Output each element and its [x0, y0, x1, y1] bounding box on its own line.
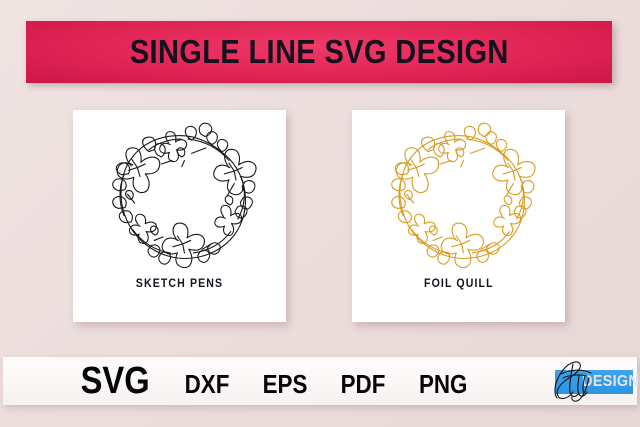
logo-fly-script-icon [549, 358, 603, 402]
file-formats-bar: SVG DXF EPS PDF PNG DESIGN [3, 357, 637, 405]
design-canvas: SINGLE LINE SVG DESIGN [0, 0, 640, 427]
format-eps: EPS [263, 371, 308, 397]
format-pdf: PDF [341, 371, 386, 397]
format-svg: SVG [81, 362, 150, 400]
header-banner: SINGLE LINE SVG DESIGN [26, 21, 612, 83]
brand-logo[interactable]: DESIGN [537, 361, 633, 401]
preview-card-sketch-pens[interactable]: SKETCH PENS [73, 110, 286, 322]
preview-card-foil-quill[interactable]: FOIL QUILL [352, 110, 565, 322]
page-title: SINGLE LINE SVG DESIGN [130, 33, 509, 71]
format-png: PNG [419, 371, 467, 397]
floral-wreath-icon-black [73, 110, 286, 278]
card-caption-foil-quill: FOIL QUILL [424, 278, 494, 290]
floral-wreath-icon-gold [352, 110, 565, 278]
card-caption-sketch-pens: SKETCH PENS [136, 278, 223, 290]
format-dxf: DXF [185, 371, 230, 397]
format-list: SVG DXF EPS PDF PNG [75, 362, 472, 400]
